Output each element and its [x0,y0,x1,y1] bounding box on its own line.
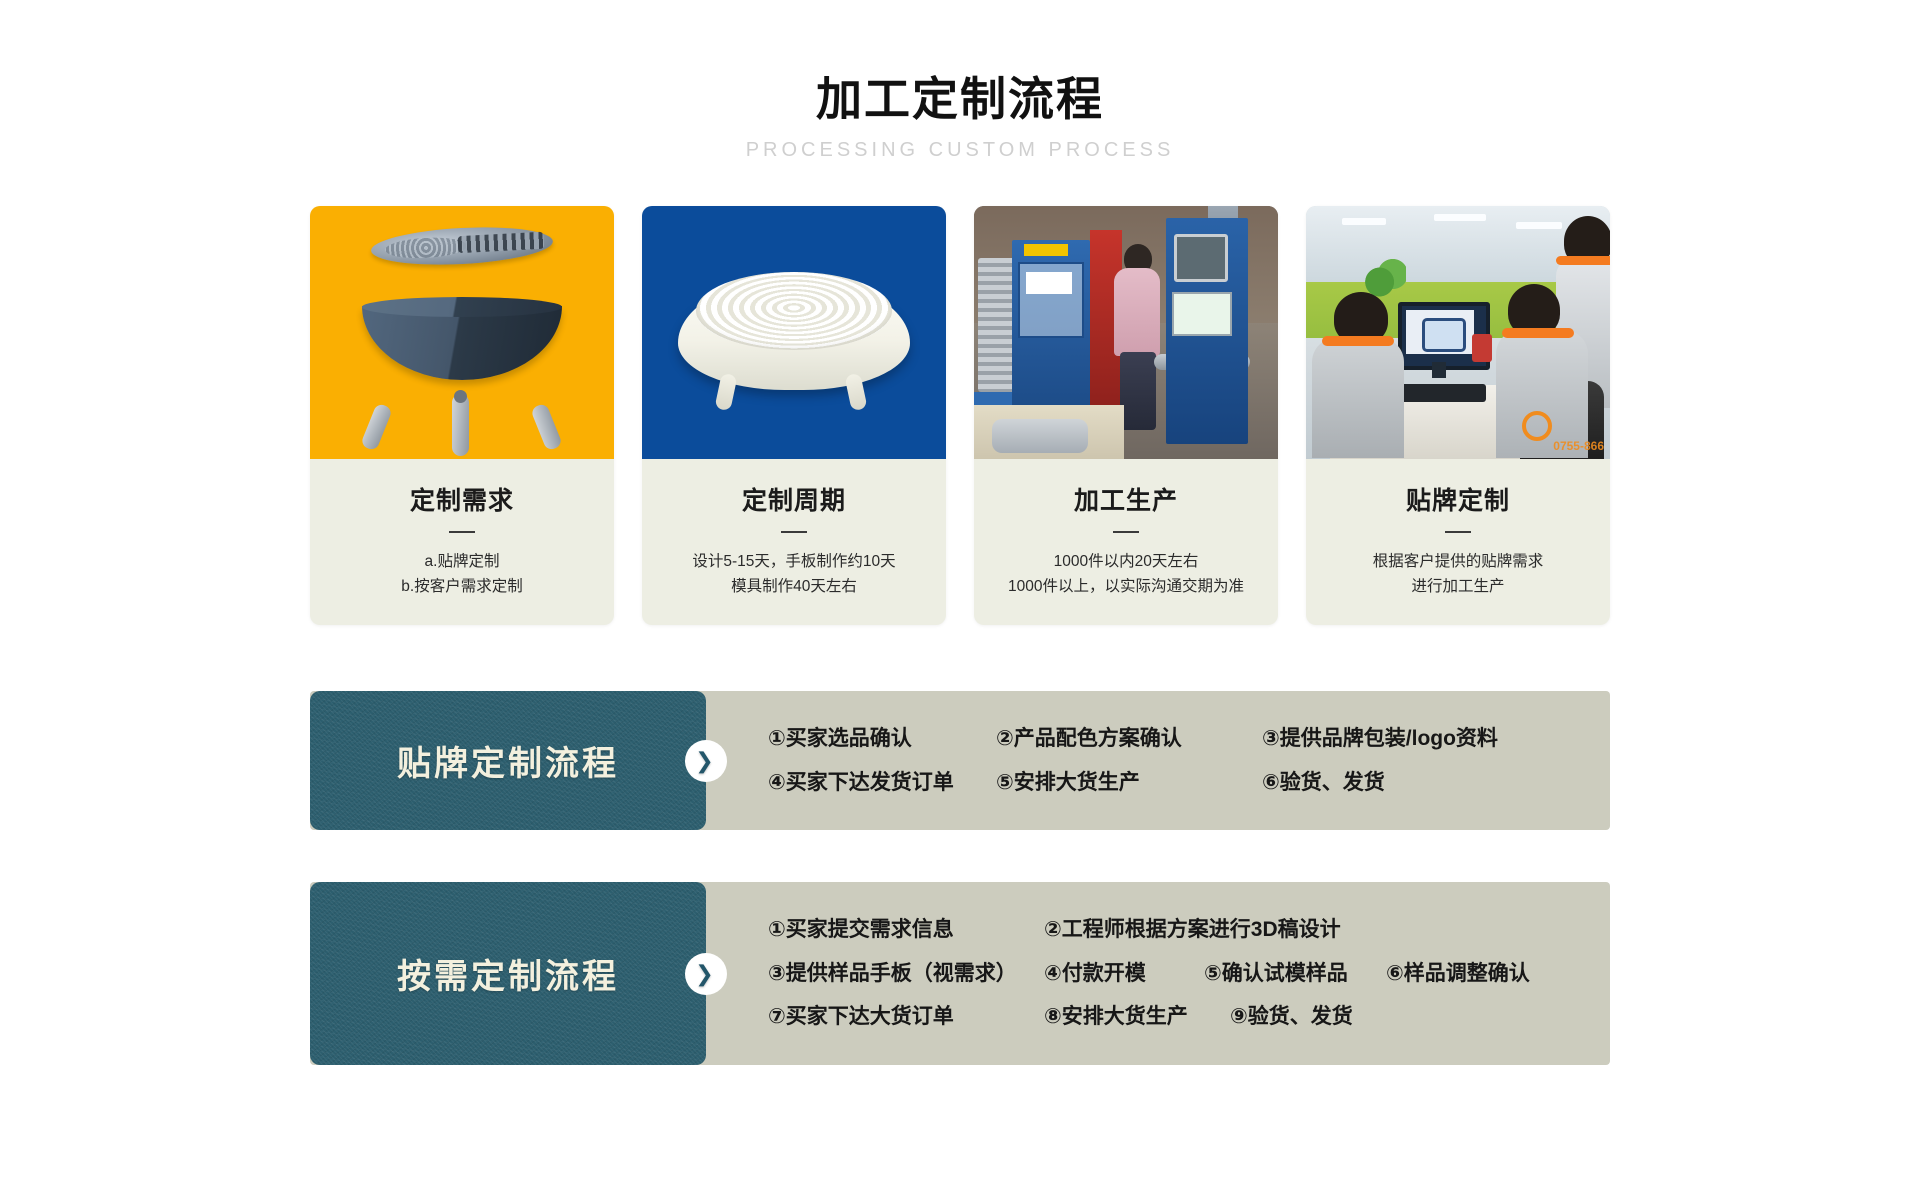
process-card-4-body: 贴牌定制 根据客户提供的贴牌需求 进行加工生产 [1306,459,1610,625]
ceiling-light [1434,214,1486,221]
step-row: ⑦买家下达大货订单 ⑧安排大货生产 ⑨验货、发货 [768,1001,1610,1033]
process-card-3[interactable]: 加工生产 1000件以内20天左右 1000件以上，以实际沟通交期为准 [974,206,1278,625]
divider [1445,531,1471,533]
step-row: ③提供样品手板（视需求） ④付款开模 ⑤确认试模样品 ⑥样品调整确认 [768,958,1610,990]
step-item: ④买家下达发货订单 [768,767,996,799]
grill-bowl-part [362,306,562,380]
step-item: ②工程师根据方案进行3D稿设计 [1044,914,1341,946]
step-item: ④付款开模 [1044,958,1178,990]
step-item: ③提供品牌包装/logo资料 [1262,723,1498,755]
step-item: ⑧安排大货生产 [1044,1001,1204,1033]
machine-display-top [1174,234,1228,282]
process-card-4-title: 贴牌定制 [1320,481,1596,517]
page-title: 加工定制流程 [0,72,1920,127]
exploded-grill-render [310,206,614,459]
step-item: ⑥验货、发货 [1262,767,1385,799]
warning-sticker [1026,272,1072,294]
grill-leg-center [452,394,469,456]
step-row: ①买家选品确认 ②产品配色方案确认 ③提供品牌包装/logo资料 [768,723,1610,755]
page-subtitle: PROCESSING CUSTOM PROCESS [0,139,1920,162]
machine-display-bottom [1172,292,1232,336]
step-row: ①买家提交需求信息 ②工程师根据方案进行3D稿设计 [768,914,1610,946]
watermark-logo-icon [1522,411,1552,441]
process-card-4-line-2: 进行加工生产 [1320,574,1596,599]
prototype-spiral-top [696,272,892,350]
process-card-3-title: 加工生产 [988,481,1264,517]
oem-process-label: 贴牌定制流程 ❯ [310,691,706,830]
process-card-4[interactable]: 0755-866 贴牌定制 根据客户提供的贴牌需求 进行加工生产 [1306,206,1610,625]
foreground-engineer-body [1312,338,1404,458]
process-card-1[interactable]: 定制需求 a.贴牌定制 b.按客户需求定制 [310,206,614,625]
keyboard [1400,384,1486,402]
oem-process-banner: 贴牌定制流程 ❯ ①买家选品确认 ②产品配色方案确认 ③提供品牌包装/logo资… [310,691,1610,830]
step-item: ⑤安排大货生产 [996,767,1262,799]
process-card-3-line-1: 1000件以内20天左右 [988,549,1264,574]
process-card-1-line-2: b.按客户需求定制 [324,574,600,599]
process-banner-list: 贴牌定制流程 ❯ ①买家选品确认 ②产品配色方案确认 ③提供品牌包装/logo资… [310,691,1610,1065]
page-header: 加工定制流程 PROCESSING CUSTOM PROCESS [0,0,1920,162]
oem-process-steps: ①买家选品确认 ②产品配色方案确认 ③提供品牌包装/logo资料 ④买家下达发货… [706,691,1610,830]
watermark-text: 0755-866 [1553,439,1604,453]
seated-engineer-collar [1502,328,1574,338]
grill-leg-right [530,403,563,452]
step-row: ④买家下达发货订单 ⑤安排大货生产 ⑥验货、发货 [768,767,1610,799]
pen-holder [1472,334,1492,362]
ceiling-light [1516,222,1562,229]
process-card-1-title: 定制需求 [324,481,600,517]
step-item: ⑨验货、发货 [1230,1001,1353,1033]
worker-legs [1120,352,1156,430]
process-card-1-line-1: a.贴牌定制 [324,549,600,574]
process-infographic-page: 加工定制流程 PROCESSING CUSTOM PROCESS 定制需求 a.… [0,0,1920,1200]
process-card-2-line-2: 模具制作40天左右 [656,574,932,599]
step-item: ③提供样品手板（视需求） [768,958,1018,990]
step-item: ⑤确认试模样品 [1204,958,1360,990]
molded-part [992,419,1088,453]
chevron-right-icon[interactable]: ❯ [685,953,727,995]
process-card-2[interactable]: 定制周期 设计5-15天，手板制作约10天 模具制作40天左右 [642,206,946,625]
process-card-3-line-2: 1000件以上，以实际沟通交期为准 [988,574,1264,599]
white-prototype-photo [642,206,946,459]
machine-label [1024,244,1068,256]
process-card-2-body: 定制周期 设计5-15天，手板制作约10天 模具制作40天左右 [642,459,946,625]
divider [781,531,807,533]
process-card-row: 定制需求 a.贴牌定制 b.按客户需求定制 定制周期 设计5-15天，手板制作约… [310,206,1610,625]
step-item: ②产品配色方案确认 [996,723,1262,755]
grill-leg-left [360,403,393,452]
process-card-1-body: 定制需求 a.贴牌定制 b.按客户需求定制 [310,459,614,625]
grill-lid-part [370,223,554,268]
ondemand-process-steps: ①买家提交需求信息 ②工程师根据方案进行3D稿设计 ③提供样品手板（视需求） ④… [706,882,1610,1065]
ceiling-light [1342,218,1386,225]
foreground-engineer-collar [1322,336,1394,346]
step-item: ①买家提交需求信息 [768,914,1018,946]
ondemand-process-banner: 按需定制流程 ❯ ①买家提交需求信息 ②工程师根据方案进行3D稿设计 ③提供样品… [310,882,1610,1065]
process-card-2-title: 定制周期 [656,481,932,517]
step-item: ⑦买家下达大货订单 [768,1001,1018,1033]
chevron-right-icon[interactable]: ❯ [685,740,727,782]
process-card-3-body: 加工生产 1000件以内20天左右 1000件以上，以实际沟通交期为准 [974,459,1278,625]
oem-process-label-text: 贴牌定制流程 [397,736,619,785]
standing-engineer-collar [1556,256,1610,265]
office-cad-design-photo: 0755-866 [1306,206,1610,459]
step-item: ①买家选品确认 [768,723,996,755]
divider [449,531,475,533]
process-card-4-line-1: 根据客户提供的贴牌需求 [1320,549,1596,574]
worker-torso [1114,268,1160,356]
divider [1113,531,1139,533]
process-card-2-line-1: 设计5-15天，手板制作约10天 [656,549,932,574]
factory-injection-molding-photo [974,206,1278,459]
ondemand-process-label-text: 按需定制流程 [397,949,619,998]
ondemand-process-label: 按需定制流程 ❯ [310,882,706,1065]
step-item: ⑥样品调整确认 [1386,958,1530,990]
cad-drawing [1422,318,1466,352]
monitor-stand [1432,362,1446,378]
